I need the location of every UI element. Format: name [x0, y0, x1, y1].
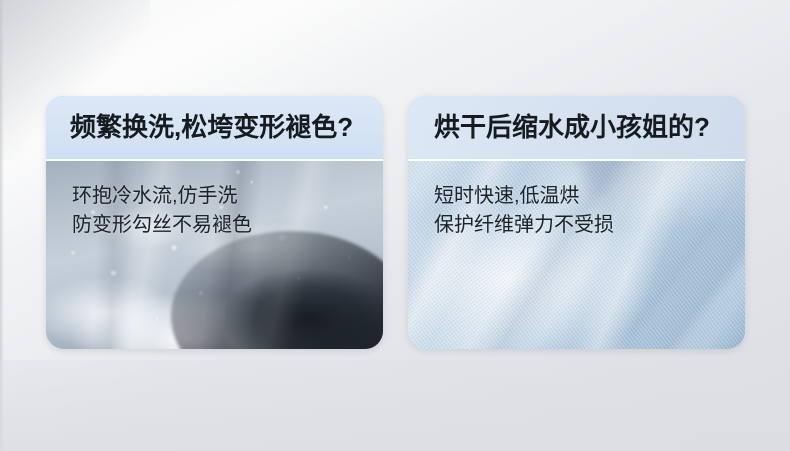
feature-card-list: 频繁换洗,松垮变形褪色? 环抱冷水流,仿手洗 防变形勾丝不易褪色 烘干后缩水成小…: [46, 96, 745, 349]
card-body-line: 防变形勾丝不易褪色: [72, 211, 372, 240]
card-title-cold-wash: 频繁换洗,松垮变形褪色?: [70, 109, 353, 145]
promo-banner: 频繁换洗,松垮变形褪色? 环抱冷水流,仿手洗 防变形勾丝不易褪色 烘干后缩水成小…: [0, 0, 790, 451]
card-body-line: 环抱冷水流,仿手洗: [72, 182, 372, 211]
feature-card-low-temp-dry[interactable]: 烘干后缩水成小孩姐的? 短时快速,低温烘 保护纤维弹力不受损: [408, 96, 745, 349]
feature-card-cold-wash[interactable]: 频繁换洗,松垮变形褪色? 环抱冷水流,仿手洗 防变形勾丝不易褪色: [46, 96, 383, 349]
card-body-cold-wash: 环抱冷水流,仿手洗 防变形勾丝不易褪色: [72, 182, 372, 240]
card-body-low-temp-dry: 短时快速,低温烘 保护纤维弹力不受损: [434, 182, 734, 240]
card-body-line: 短时快速,低温烘: [434, 182, 734, 211]
card-body-line: 保护纤维弹力不受损: [434, 211, 734, 240]
card-title-low-temp-dry: 烘干后缩水成小孩姐的?: [434, 109, 710, 145]
